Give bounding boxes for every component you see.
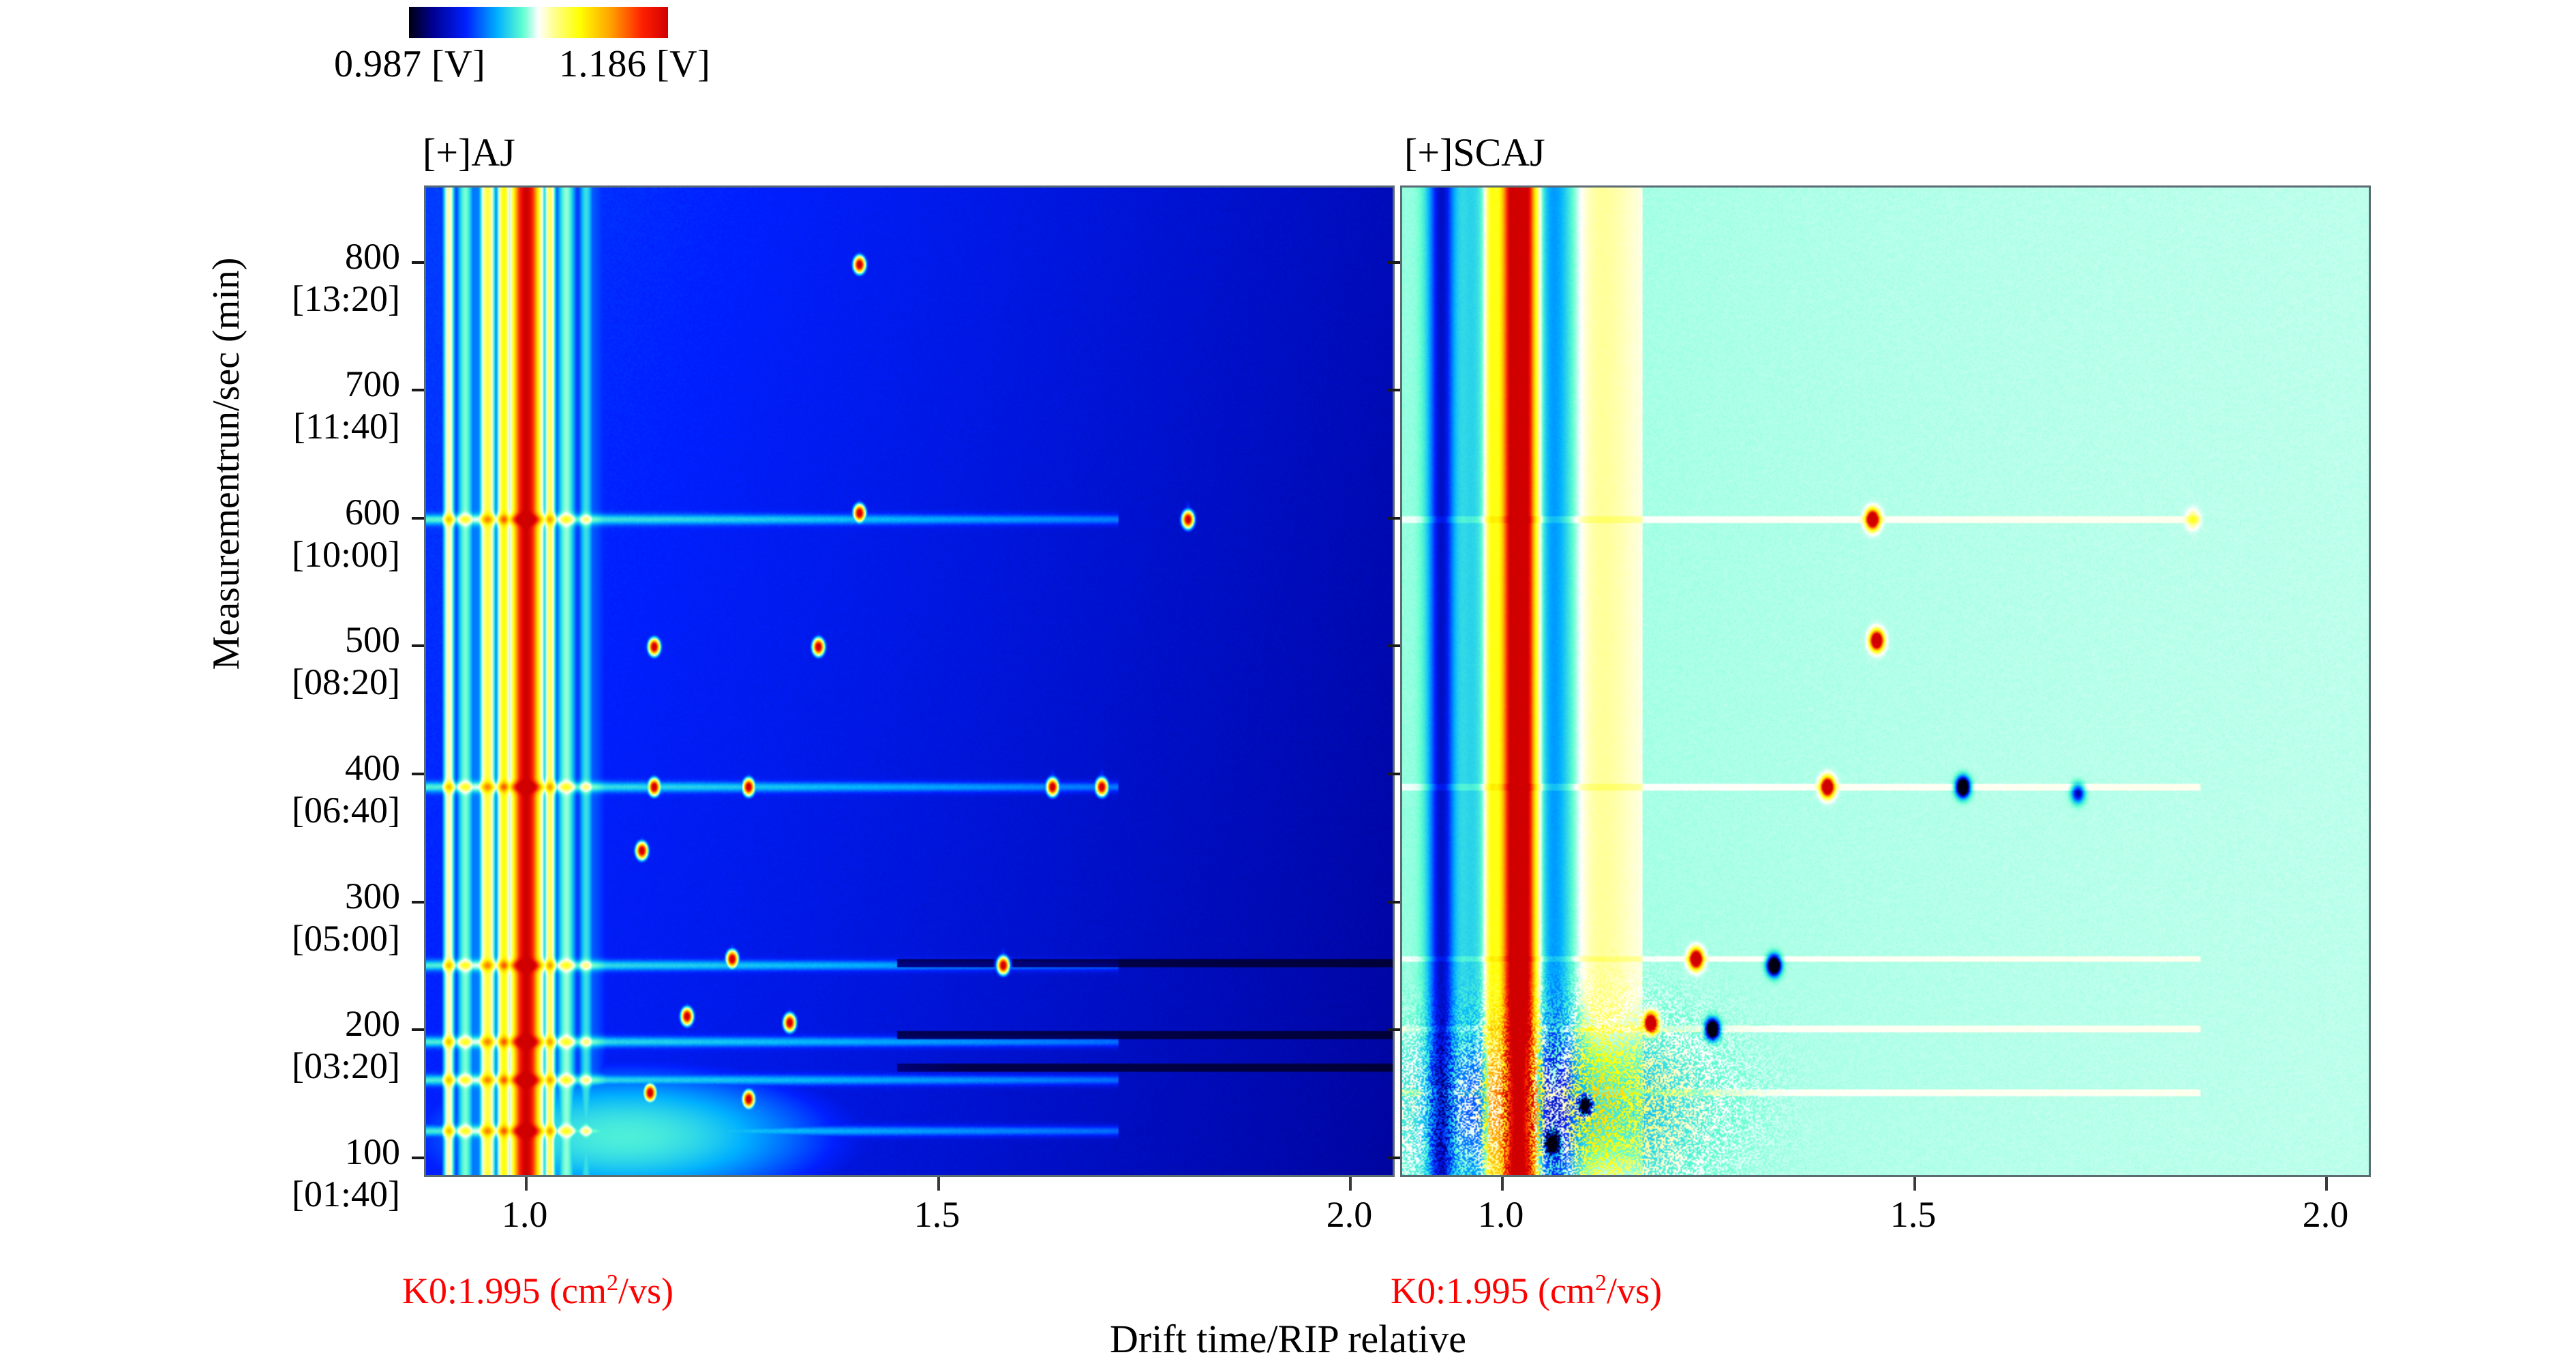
y-tick-value-100: 100 — [345, 1133, 400, 1170]
y-tick-time-100: [01:40] — [292, 1176, 400, 1212]
y-tick-time-700: [11:40] — [293, 408, 400, 445]
y-tick-mark — [1388, 1028, 1400, 1031]
panel-title-left: [+]AJ — [423, 130, 515, 175]
k0-right-suffix: /vs) — [1607, 1270, 1662, 1311]
y-tick-mark — [1388, 644, 1400, 647]
y-tick-mark — [412, 389, 424, 391]
y-tick-mark — [412, 517, 424, 520]
k0-left-prefix: K0:1.995 (cm — [402, 1270, 607, 1311]
x-tick-label-1.0: 1.0 — [1478, 1193, 1524, 1236]
k0-right-prefix: K0:1.995 (cm — [1391, 1270, 1595, 1311]
k0-annotation-right: K0:1.995 (cm2/vs) — [1391, 1270, 1662, 1312]
k0-annotation-left: K0:1.995 (cm2/vs) — [402, 1270, 673, 1312]
y-tick-time-800: [13:20] — [292, 280, 400, 317]
y-tick-time-400: [06:40] — [292, 792, 400, 829]
heatmap-canvas-scaj — [1402, 188, 2369, 1175]
x-tick-mark — [525, 1177, 528, 1191]
y-tick-value-300: 300 — [345, 878, 400, 914]
y-tick-value-500: 500 — [345, 621, 400, 658]
x-tick-label-1.0: 1.0 — [502, 1193, 548, 1236]
x-tick-mark — [2325, 1177, 2328, 1191]
heatmap-canvas-aj — [426, 188, 1393, 1175]
y-tick-mark — [412, 901, 424, 904]
colorbar-labels: 0.987 [V] 1.186 [V] — [334, 42, 811, 90]
y-tick-value-600: 600 — [345, 494, 400, 531]
colorbar-container — [409, 7, 668, 38]
colorbar-max-label: 1.186 [V] — [559, 42, 710, 86]
k0-left-sup: 2 — [607, 1270, 618, 1296]
x-axis-label: Drift time/RIP relative — [0, 1316, 2576, 1362]
y-tick-value-800: 800 — [345, 238, 400, 275]
y-tick-value-700: 700 — [345, 366, 400, 402]
y-tick-time-500: [08:20] — [292, 663, 400, 700]
y-tick-mark — [1388, 773, 1400, 775]
y-tick-mark — [412, 1028, 424, 1031]
y-tick-mark — [1388, 517, 1400, 520]
y-tick-mark — [412, 1157, 424, 1159]
k0-left-suffix: /vs) — [618, 1270, 673, 1311]
y-tick-mark — [412, 644, 424, 647]
y-tick-time-600: [10:00] — [292, 536, 400, 573]
x-tick-label-2.0: 2.0 — [1327, 1193, 1373, 1236]
y-tick-mark — [1388, 901, 1400, 904]
y-tick-mark — [412, 773, 424, 775]
y-tick-mark — [412, 261, 424, 264]
y-tick-value-200: 200 — [345, 1005, 400, 1042]
x-tick-mark — [1349, 1177, 1352, 1191]
y-tick-value-400: 400 — [345, 749, 400, 786]
y-tick-time-200: [03:20] — [292, 1047, 400, 1084]
x-tick-label-1.5: 1.5 — [1890, 1193, 1937, 1236]
intensity-colorbar — [409, 7, 668, 38]
panel-title-right: [+]SCAJ — [1404, 130, 1545, 175]
y-tick-time-300: [05:00] — [292, 920, 400, 957]
y-tick-mark — [1388, 261, 1400, 264]
y-tick-labels: 800[13:20]700[11:40]600[10:00]500[08:20]… — [177, 0, 402, 1372]
k0-right-sup: 2 — [1595, 1270, 1607, 1296]
x-tick-label-2.0: 2.0 — [2303, 1193, 2349, 1236]
y-tick-mark — [1388, 389, 1400, 391]
heatmap-panel-scaj[interactable] — [1400, 185, 2371, 1177]
x-tick-mark — [1913, 1177, 1916, 1191]
x-tick-mark — [1501, 1177, 1504, 1191]
y-tick-mark — [1388, 1157, 1400, 1159]
heatmap-panel-aj[interactable] — [424, 185, 1395, 1177]
x-tick-label-1.5: 1.5 — [914, 1193, 960, 1236]
x-tick-mark — [937, 1177, 940, 1191]
